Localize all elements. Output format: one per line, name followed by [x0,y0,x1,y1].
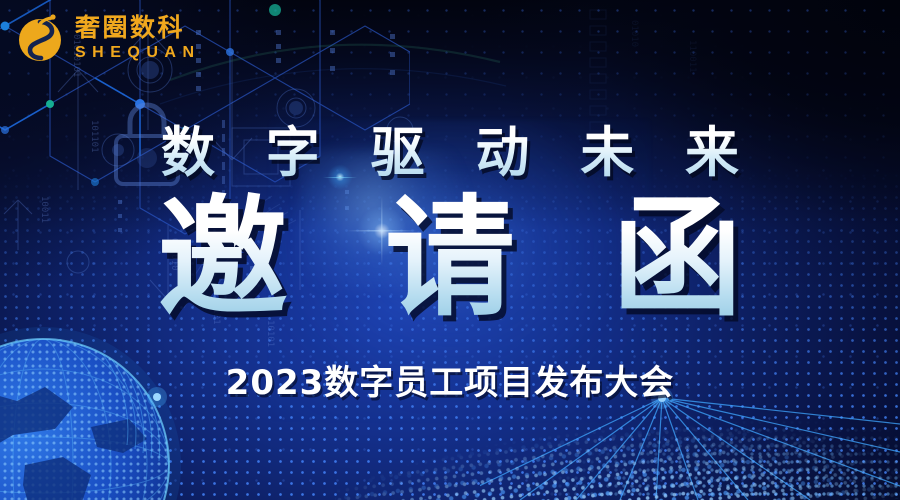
digital-globe [0,315,205,500]
shequan-emblem-icon [14,10,66,66]
invitation-poster: 01010101 101101 10011 011010 110101 1010… [0,0,900,500]
subtitle-text: 2023数字员工项目发布大会 [0,355,900,404]
page-title: 邀 请 函 [0,188,900,328]
headline-text: 数 字 驱 动 未 来 [0,108,900,187]
svg-text:110011: 110011 [687,40,697,73]
brand-logo-text: 奢圈数科 SHEQUAN [75,15,201,61]
svg-text:01010: 01010 [629,20,639,47]
brand-name-cn: 奢圈数科 [75,15,201,40]
brand-logo[interactable]: 奢圈数科 SHEQUAN [14,10,201,66]
brand-name-en: SHEQUAN [75,45,201,61]
